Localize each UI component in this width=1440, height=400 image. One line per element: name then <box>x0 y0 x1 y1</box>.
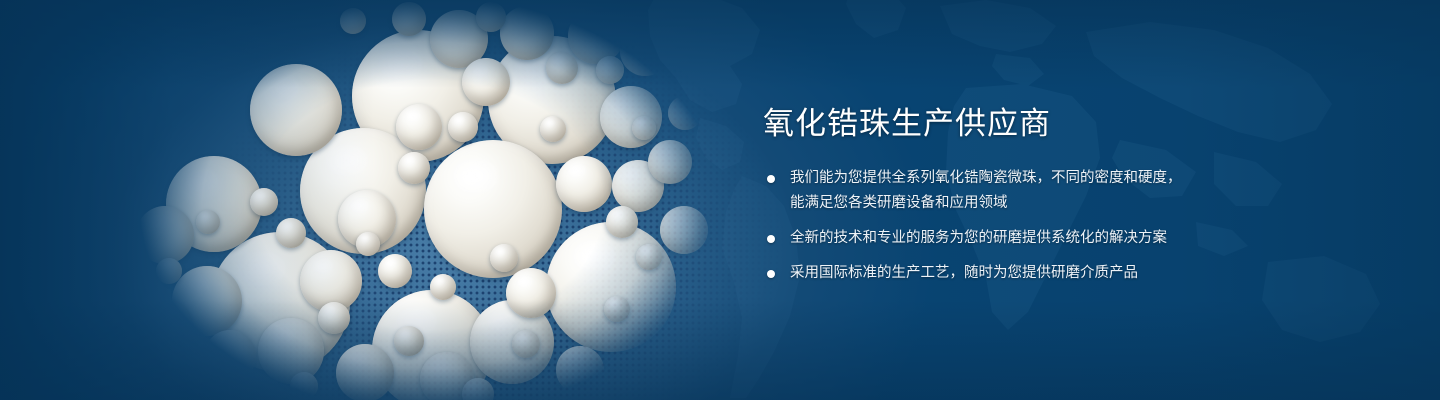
list-item-line: 能满足您各类研磨设备和应用领域 <box>790 191 1233 216</box>
hero-banner: 氧化锆珠生产供应商 我们能为您提供全系列氧化锆陶瓷微珠，不同的密度和硬度， 能满… <box>0 0 1440 400</box>
bullet-dot-icon <box>767 270 775 278</box>
list-item-line: 采用国际标准的生产工艺，随时为您提供研磨介质产品 <box>790 261 1233 286</box>
bullet-dot-icon <box>767 235 775 243</box>
page-title: 氧化锆珠生产供应商 <box>763 104 1233 144</box>
list-item-line: 全新的技术和专业的服务为您的研磨提供系统化的解决方案 <box>790 226 1233 251</box>
feature-list: 我们能为您提供全系列氧化锆陶瓷微珠，不同的密度和硬度， 能满足您各类研磨设备和应… <box>763 166 1233 286</box>
list-item-line: 我们能为您提供全系列氧化锆陶瓷微珠，不同的密度和硬度， <box>790 166 1233 191</box>
list-item: 我们能为您提供全系列氧化锆陶瓷微珠，不同的密度和硬度， 能满足您各类研磨设备和应… <box>763 166 1233 216</box>
bullet-dot-icon <box>767 175 775 183</box>
list-item: 全新的技术和专业的服务为您的研磨提供系统化的解决方案 <box>763 226 1233 251</box>
list-item: 采用国际标准的生产工艺，随时为您提供研磨介质产品 <box>763 261 1233 286</box>
banner-copy: 氧化锆珠生产供应商 我们能为您提供全系列氧化锆陶瓷微珠，不同的密度和硬度， 能满… <box>763 104 1233 286</box>
